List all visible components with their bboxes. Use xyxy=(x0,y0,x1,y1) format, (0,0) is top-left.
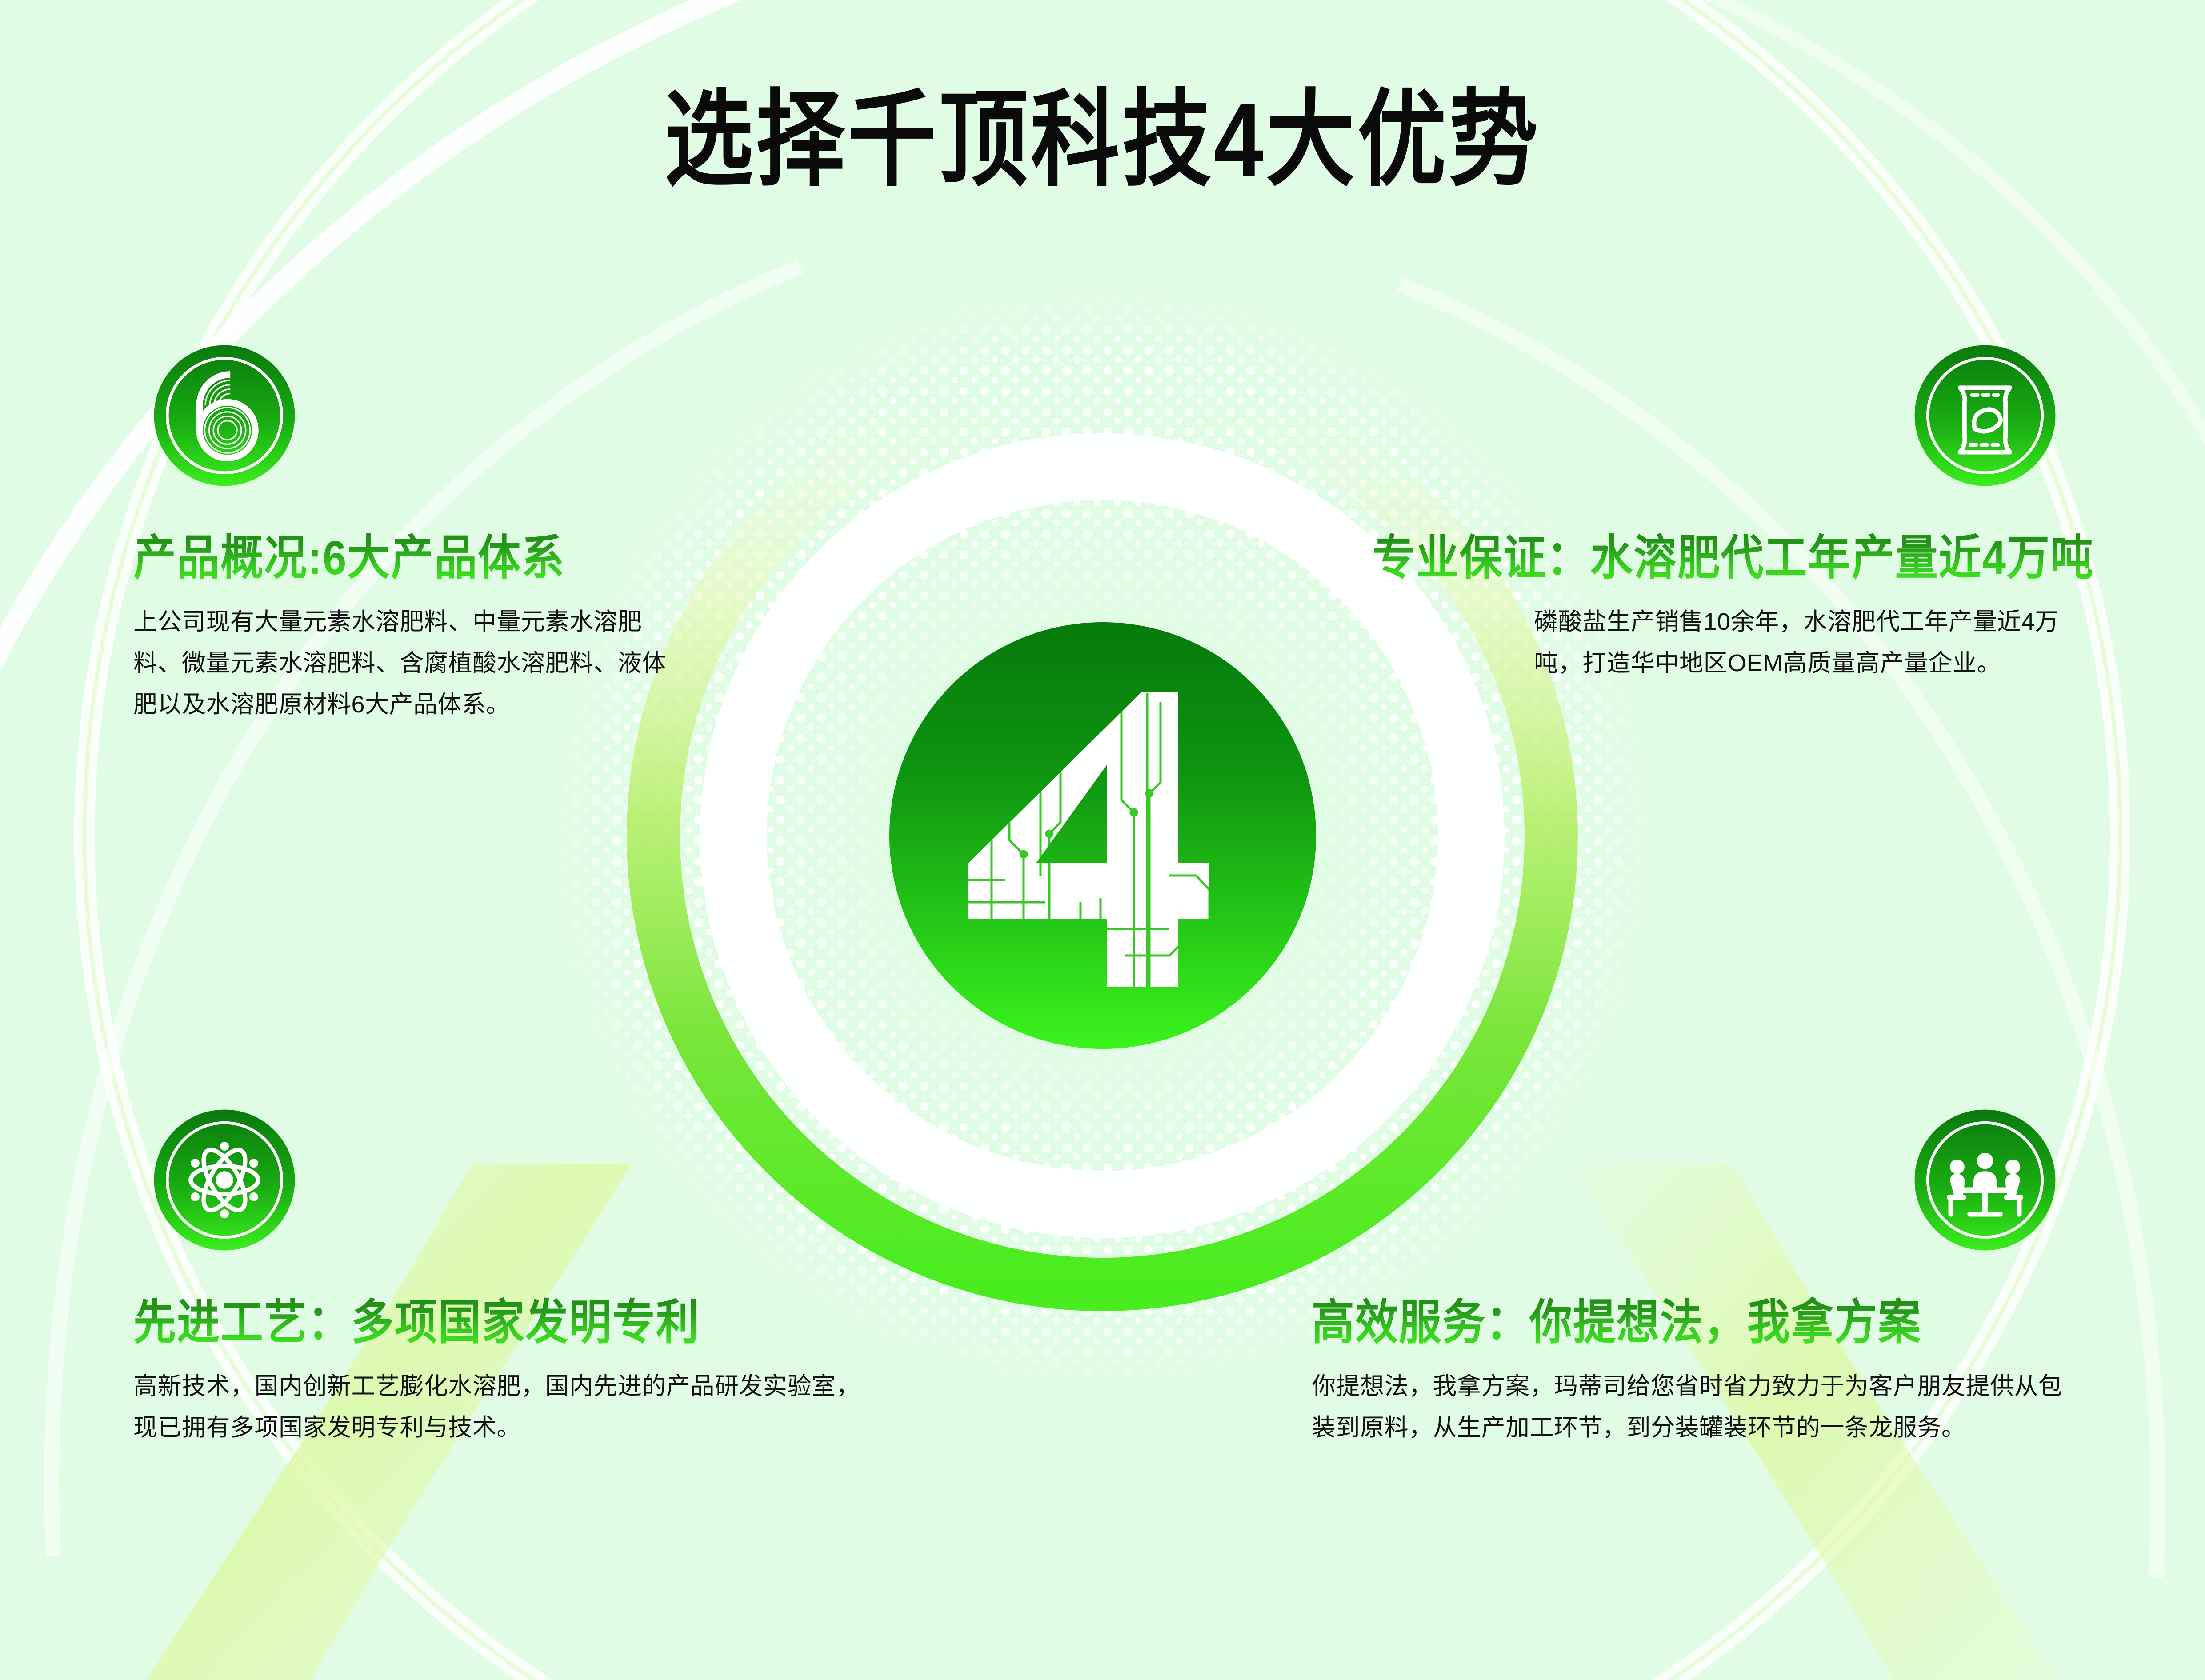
advantage-heading-1: 产品概况:6大产品体系 xyxy=(133,529,702,587)
advantage-body-3: 高新技术，国内创新工艺膨化水溶肥，国内先进的产品研发实验室，现已拥有多项国家发明… xyxy=(133,1366,880,1448)
advantage-icon-badge-4 xyxy=(1912,1107,2058,1253)
advantage-body-4: 你提想法，我拿方案，玛蒂司给您省时省力致力于为客户朋友提供从包装到原料，从生产加… xyxy=(1312,1366,2085,1448)
advantage-body-2: 磷酸盐生产销售10余年，水溶肥代工年产量近4万吨，打造华中地区OEM高质量高产量… xyxy=(1534,601,2094,684)
advantage-block-bottom-left: 先进工艺：多项国家发明专利 高新技术，国内创新工艺膨化水溶肥，国内先进的产品研发… xyxy=(133,1293,889,1448)
advantage-heading-2: 专业保证：水溶肥代工年产量近4万吨 xyxy=(1178,529,2094,587)
advantage-block-bottom-right: 高效服务：你提想法，我拿方案 你提想法，我拿方案，玛蒂司给您省时省力致力于为客户… xyxy=(1312,1293,2094,1448)
advantage-icon-badge-3 xyxy=(151,1107,298,1253)
advantage-body-1: 上公司现有大量元素水溶肥料、中量元素水溶肥料、微量元素水溶肥料、含腐植酸水溶肥料… xyxy=(133,601,671,725)
advantage-heading-3: 先进工艺：多项国家发明专利 xyxy=(133,1293,889,1352)
page-title: 选择千顶科技4大优势 xyxy=(664,80,1541,200)
page-title-wrap: 选择千顶科技4大优势 xyxy=(0,80,2205,182)
center-circle xyxy=(889,622,1316,1049)
advantage-icon-badge-2 xyxy=(1912,342,2058,489)
advantage-icon-badge-1 xyxy=(151,342,298,489)
center-emblem xyxy=(858,591,1347,1080)
advantage-block-top-left: 产品概况:6大产品体系 上公司现有大量元素水溶肥料、中量元素水溶肥料、微量元素水… xyxy=(133,529,702,725)
advantage-heading-4: 高效服务：你提想法，我拿方案 xyxy=(1312,1293,2094,1352)
